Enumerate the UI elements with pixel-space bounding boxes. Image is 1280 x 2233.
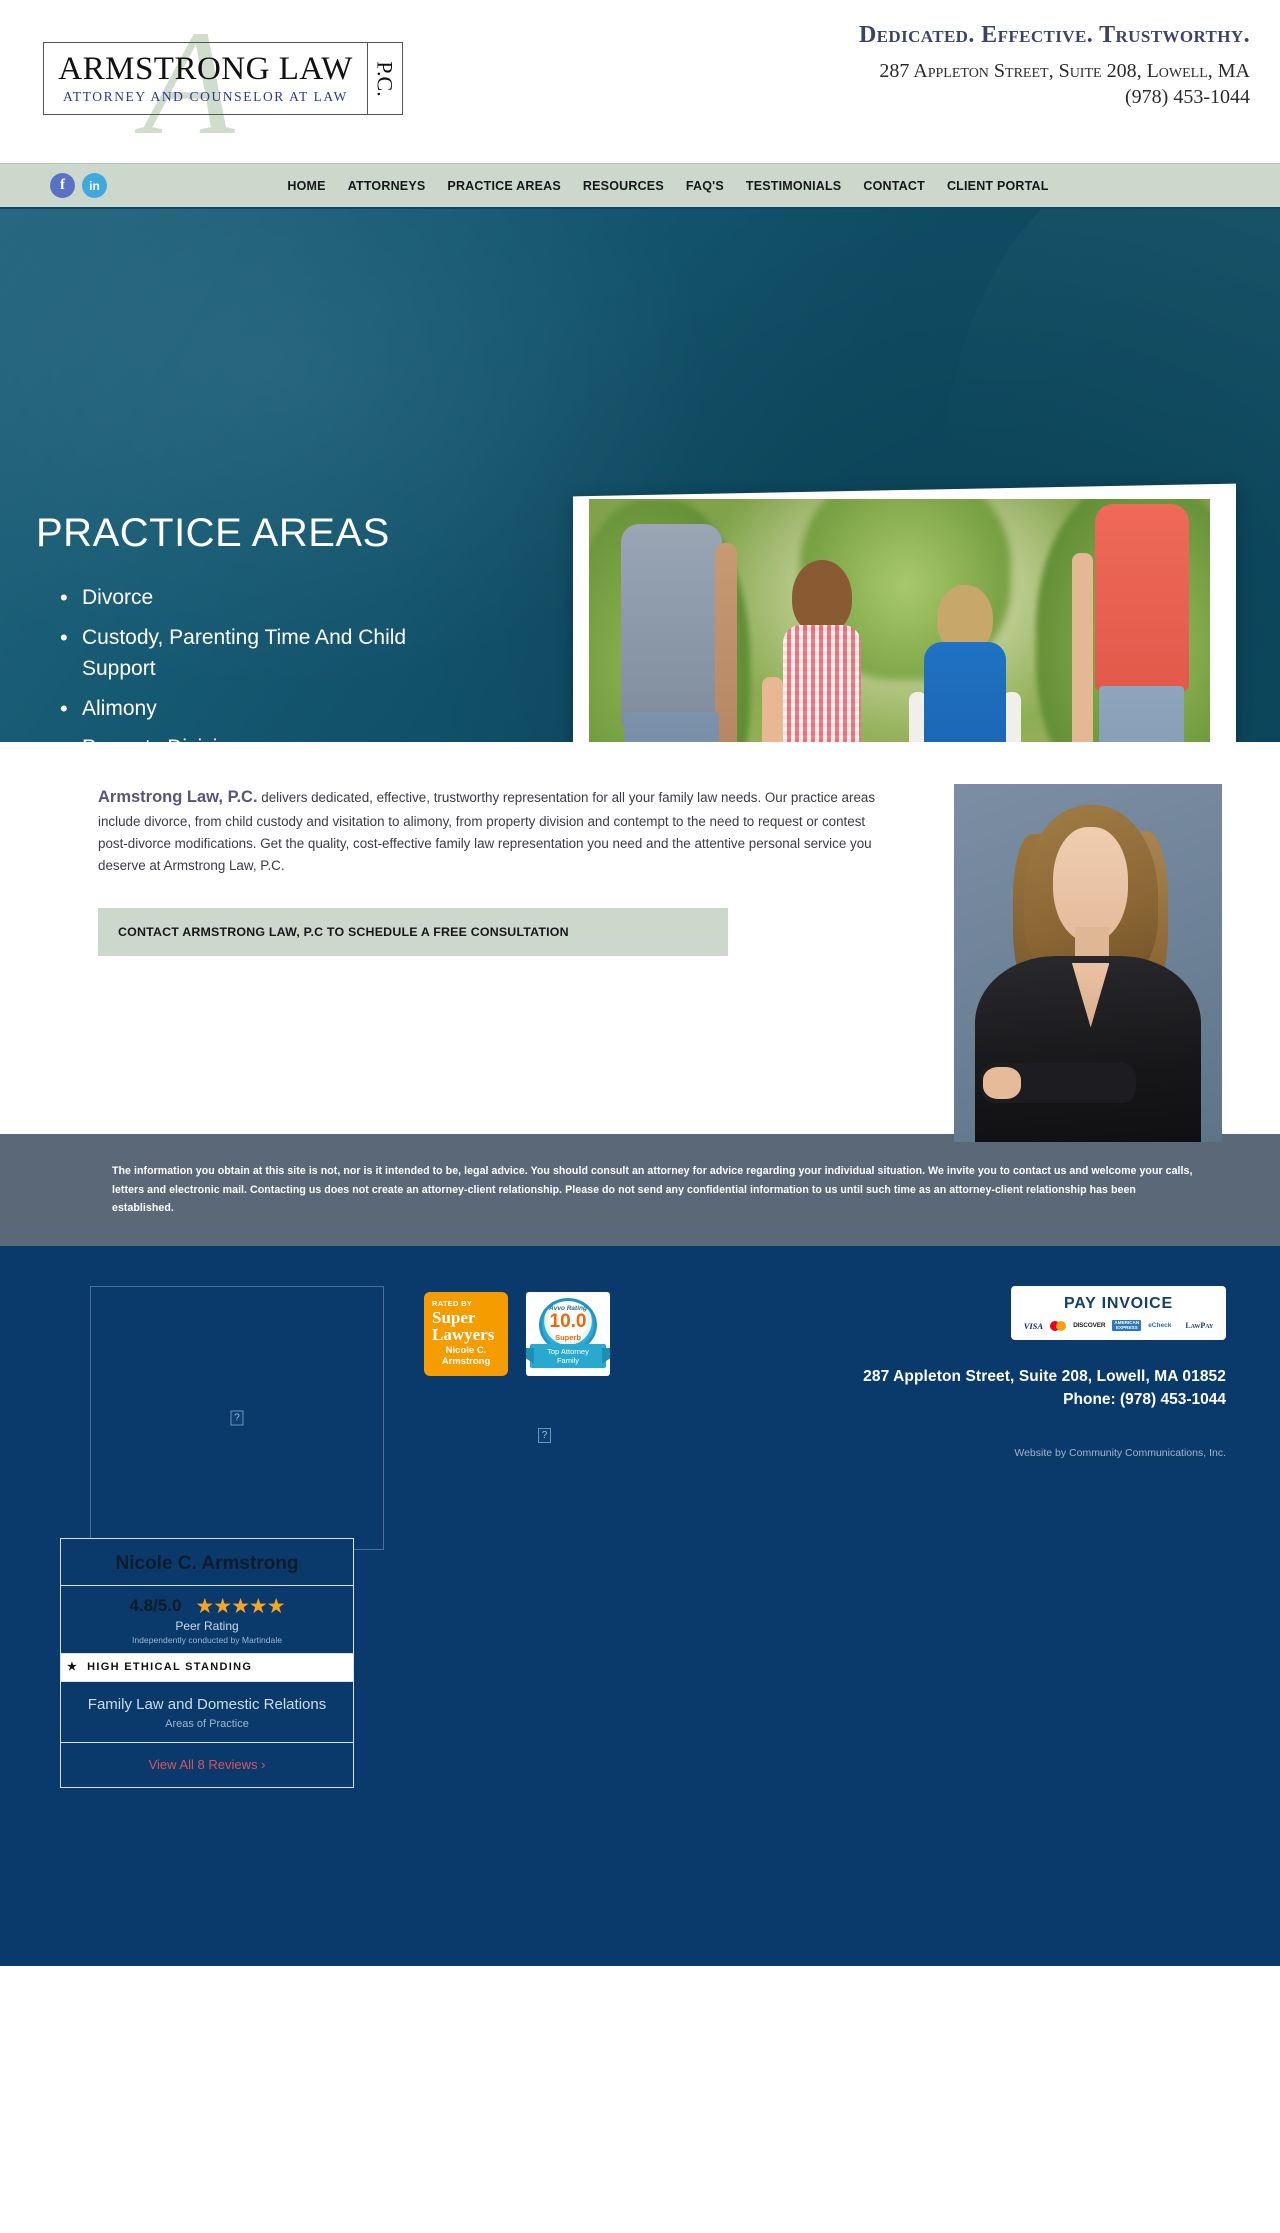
hero-family-photo: [589, 499, 1210, 742]
figure-father: [614, 514, 732, 742]
footer-phone[interactable]: Phone: (978) 453-1044: [810, 1391, 1226, 1409]
review-practice-block: Family Law and Domestic Relations Areas …: [61, 1682, 353, 1744]
list-item[interactable]: Property Division: [58, 732, 418, 742]
avvo-ribbon: Top Attorney Family: [530, 1344, 606, 1368]
review-score: 4.8/5.0: [129, 1596, 181, 1616]
intro-copy: Armstrong Law, P.C. delivers dedicated, …: [98, 784, 898, 956]
avvo-score: 10.0: [526, 1312, 610, 1333]
broken-image-placeholder-small: ?: [538, 1428, 551, 1443]
nav-item-attorneys[interactable]: ATTORNEYS: [348, 179, 426, 193]
nav-item-practice-areas[interactable]: PRACTICE AREAS: [447, 179, 560, 193]
footer-right-column: PAY INVOICE VISA DISCOVER AMERICANEXPRES…: [810, 1286, 1250, 1459]
logo-pc-suffix: P.C.: [368, 43, 402, 114]
nav-item-testimonials[interactable]: TESTIMONIALS: [746, 179, 841, 193]
firm-tagline: Dedicated. Effective. Trustworthy.: [859, 22, 1250, 49]
header-address: 287 Appleton Street, Suite 208, Lowell, …: [859, 60, 1250, 83]
disclaimer-text: The information you obtain at this site …: [112, 1162, 1194, 1218]
view-all-reviews-link[interactable]: View All 8 Reviews ›: [149, 1757, 266, 1772]
mastercard-icon: [1050, 1321, 1066, 1331]
nav-item-resources[interactable]: RESOURCES: [583, 179, 664, 193]
star-rating-icon: ★★★★★: [195, 1596, 284, 1617]
avvo-grade: Superb: [526, 1333, 610, 1342]
echeck-icon: eCheck: [1148, 1321, 1171, 1331]
avvo-ribbon-line1: Top Attorney: [547, 1347, 589, 1356]
website-credit[interactable]: Website by Community Communications, Inc…: [810, 1447, 1226, 1459]
amex-icon: AMERICANEXPRESS: [1112, 1320, 1141, 1332]
social-links: f in: [50, 173, 107, 198]
figure-girl: [775, 564, 868, 742]
site-logo[interactable]: A ARMSTRONG LAW ATTORNEY AND COUNSELOR A…: [25, 6, 415, 151]
logo-subtitle: ATTORNEY AND COUNSELOR AT LAW: [63, 89, 348, 105]
facebook-icon[interactable]: f: [50, 173, 75, 198]
intro-lead: Armstrong Law, P.C.: [98, 788, 258, 806]
lawpay-icon: LawPay: [1185, 1321, 1213, 1331]
nav-item-faqs[interactable]: FAQ'S: [686, 179, 724, 193]
review-attorney-name: Nicole C. Armstrong: [61, 1539, 353, 1586]
martindale-review-widget: Nicole C. Armstrong 4.8/5.0 ★★★★★ Peer R…: [60, 1538, 354, 1789]
broken-image-icon: ?: [231, 1410, 244, 1425]
logo-pc-text: P.C.: [372, 61, 398, 96]
ethical-badge-label: HIGH ETHICAL STANDING: [87, 1661, 252, 1673]
linkedin-icon[interactable]: in: [82, 173, 107, 198]
intro-paragraph: Armstrong Law, P.C. delivers dedicated, …: [98, 784, 898, 878]
high-ethical-standing-badge: ★ HIGH ETHICAL STANDING: [61, 1654, 353, 1682]
logo-box: ARMSTRONG LAW ATTORNEY AND COUNSELOR AT …: [43, 42, 403, 115]
nav-item-contact[interactable]: CONTACT: [863, 179, 925, 193]
legal-disclaimer: The information you obtain at this site …: [0, 1134, 1280, 1246]
hero-text-block: PRACTICE AREAS Divorce Custody, Parentin…: [36, 209, 576, 742]
super-lawyers-badge[interactable]: RATED BY Super Lawyers Nicole C. Armstro…: [424, 1292, 508, 1376]
figure-boy: [918, 585, 1011, 742]
attorney-headshot: [954, 784, 1222, 1142]
review-source: Independently conducted by Martindale: [67, 1635, 347, 1645]
red-star-icon: ★: [67, 1662, 78, 1673]
review-practice-area: Family Law and Domestic Relations: [71, 1696, 343, 1715]
avvo-ribbon-line2: Family: [557, 1356, 579, 1365]
contact-consultation-button[interactable]: CONTACT ARMSTRONG LAW, P.C TO SCHEDULE A…: [98, 908, 728, 956]
review-link-row: View All 8 Reviews ›: [61, 1743, 353, 1787]
list-item[interactable]: Alimony: [58, 693, 418, 725]
footer-address: 287 Appleton Street, Suite 208, Lowell, …: [810, 1368, 1226, 1386]
visa-icon: VISA: [1024, 1321, 1043, 1331]
site-header: A ARMSTRONG LAW ATTORNEY AND COUNSELOR A…: [0, 0, 1280, 163]
pay-invoice-button[interactable]: PAY INVOICE VISA DISCOVER AMERICANEXPRES…: [1011, 1286, 1226, 1340]
avvo-rating-badge[interactable]: Avvo Rating 10.0 Superb Top Attorney Fam…: [526, 1292, 610, 1376]
list-item[interactable]: Custody, Parenting Time And Child Suppor…: [58, 622, 418, 685]
nav-item-home[interactable]: HOME: [287, 179, 325, 193]
header-contact-block: Dedicated. Effective. Trustworthy. 287 A…: [859, 22, 1250, 109]
discover-icon: DISCOVER: [1073, 1321, 1105, 1331]
logo-firm-name: ARMSTRONG LAW: [58, 52, 352, 87]
intro-section: Armstrong Law, P.C. delivers dedicated, …: [0, 742, 1280, 1134]
nav-item-client-portal[interactable]: CLIENT PORTAL: [947, 179, 1049, 193]
pay-invoice-label: PAY INVOICE: [1025, 1295, 1212, 1313]
page-title: PRACTICE AREAS: [36, 511, 576, 556]
main-navigation: f in HOME ATTORNEYS PRACTICE AREAS RESOU…: [0, 163, 1280, 209]
review-peer-label: Peer Rating: [67, 1619, 347, 1633]
nav-links: HOME ATTORNEYS PRACTICE AREAS RESOURCES …: [231, 179, 1048, 193]
hero-photo-frame: [573, 490, 1236, 742]
review-practice-sublabel: Areas of Practice: [71, 1718, 343, 1730]
list-item[interactable]: Divorce: [58, 582, 418, 614]
footer-left-column: ?: [90, 1286, 390, 1550]
hero-banner: PRACTICE AREAS Divorce Custody, Parentin…: [0, 209, 1280, 742]
logo-text-block: ARMSTRONG LAW ATTORNEY AND COUNSELOR AT …: [44, 43, 368, 114]
family-walking-illustration: [589, 499, 1210, 742]
super-lawyers-brand: Super Lawyers: [432, 1309, 500, 1343]
header-phone[interactable]: (978) 453-1044: [859, 86, 1250, 109]
payment-card-icons: VISA DISCOVER AMERICANEXPRESS eCheck Law…: [1025, 1320, 1212, 1332]
footer-badges-column: RATED BY Super Lawyers Nicole C. Armstro…: [390, 1286, 810, 1443]
figure-mother: [1086, 504, 1198, 742]
practice-areas-list: Divorce Custody, Parenting Time And Chil…: [58, 582, 576, 742]
super-lawyers-attorney-name: Nicole C. Armstrong: [432, 1346, 500, 1368]
broken-image-placeholder-large: ?: [90, 1286, 384, 1550]
review-rating-block: 4.8/5.0 ★★★★★ Peer Rating Independently …: [61, 1586, 353, 1654]
super-lawyers-rated-by: RATED BY: [432, 1299, 500, 1308]
site-footer: ? RATED BY Super Lawyers Nicole C. Armst…: [0, 1246, 1280, 1966]
